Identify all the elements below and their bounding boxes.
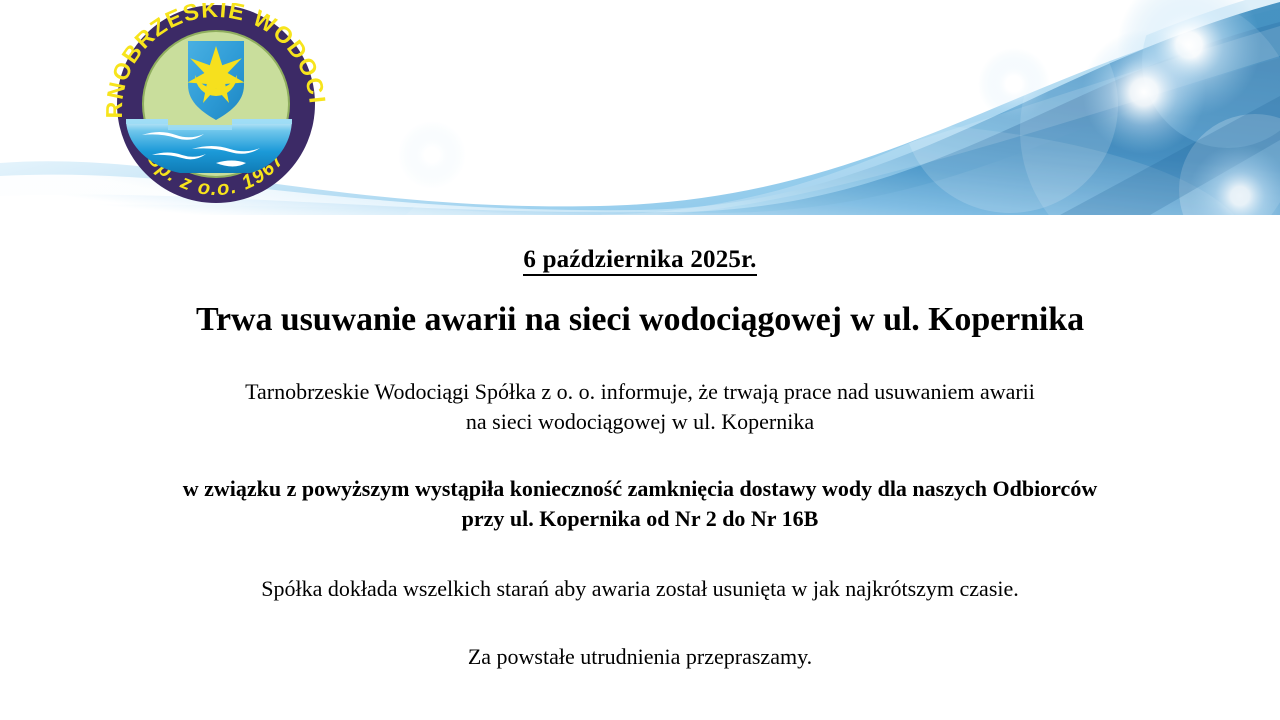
notice-intro-line-1: Tarnobrzeskie Wodociągi Spółka z o. o. i… bbox=[0, 377, 1280, 407]
wave-glow-5 bbox=[398, 121, 466, 189]
company-logo: TARNOBRZESKIE WODOCIĄGI Sp. z o.o. 1967 bbox=[96, 3, 336, 205]
notice-date-text: 6 października 2025r. bbox=[523, 246, 756, 276]
wave-glow-4 bbox=[978, 48, 1050, 120]
header-banner: TARNOBRZESKIE WODOCIĄGI Sp. z o.o. 1967 bbox=[0, 0, 1280, 215]
notice-consequence-line-2: przy ul. Kopernika od Nr 2 do Nr 16B bbox=[0, 504, 1280, 534]
logo-seal: TARNOBRZESKIE WODOCIĄGI Sp. z o.o. 1967 bbox=[96, 3, 336, 205]
notice-effort: Spółka dokłada wszelkich starań aby awar… bbox=[0, 574, 1280, 604]
notice-date: 6 października 2025r. bbox=[0, 246, 1280, 274]
wave-glow-2 bbox=[1082, 30, 1206, 154]
notice-apology: Za powstałe utrudnienia przepraszamy. bbox=[0, 642, 1280, 672]
notice-content: 6 października 2025r. Trwa usuwanie awar… bbox=[0, 215, 1280, 672]
notice-intro-line-2: na sieci wodociągowej w ul. Kopernika bbox=[0, 407, 1280, 437]
page-title: Trwa usuwanie awarii na sieci wodociągow… bbox=[0, 300, 1280, 339]
notice-consequence-line-1: w związku z powyższym wystąpiła konieczn… bbox=[0, 474, 1280, 504]
